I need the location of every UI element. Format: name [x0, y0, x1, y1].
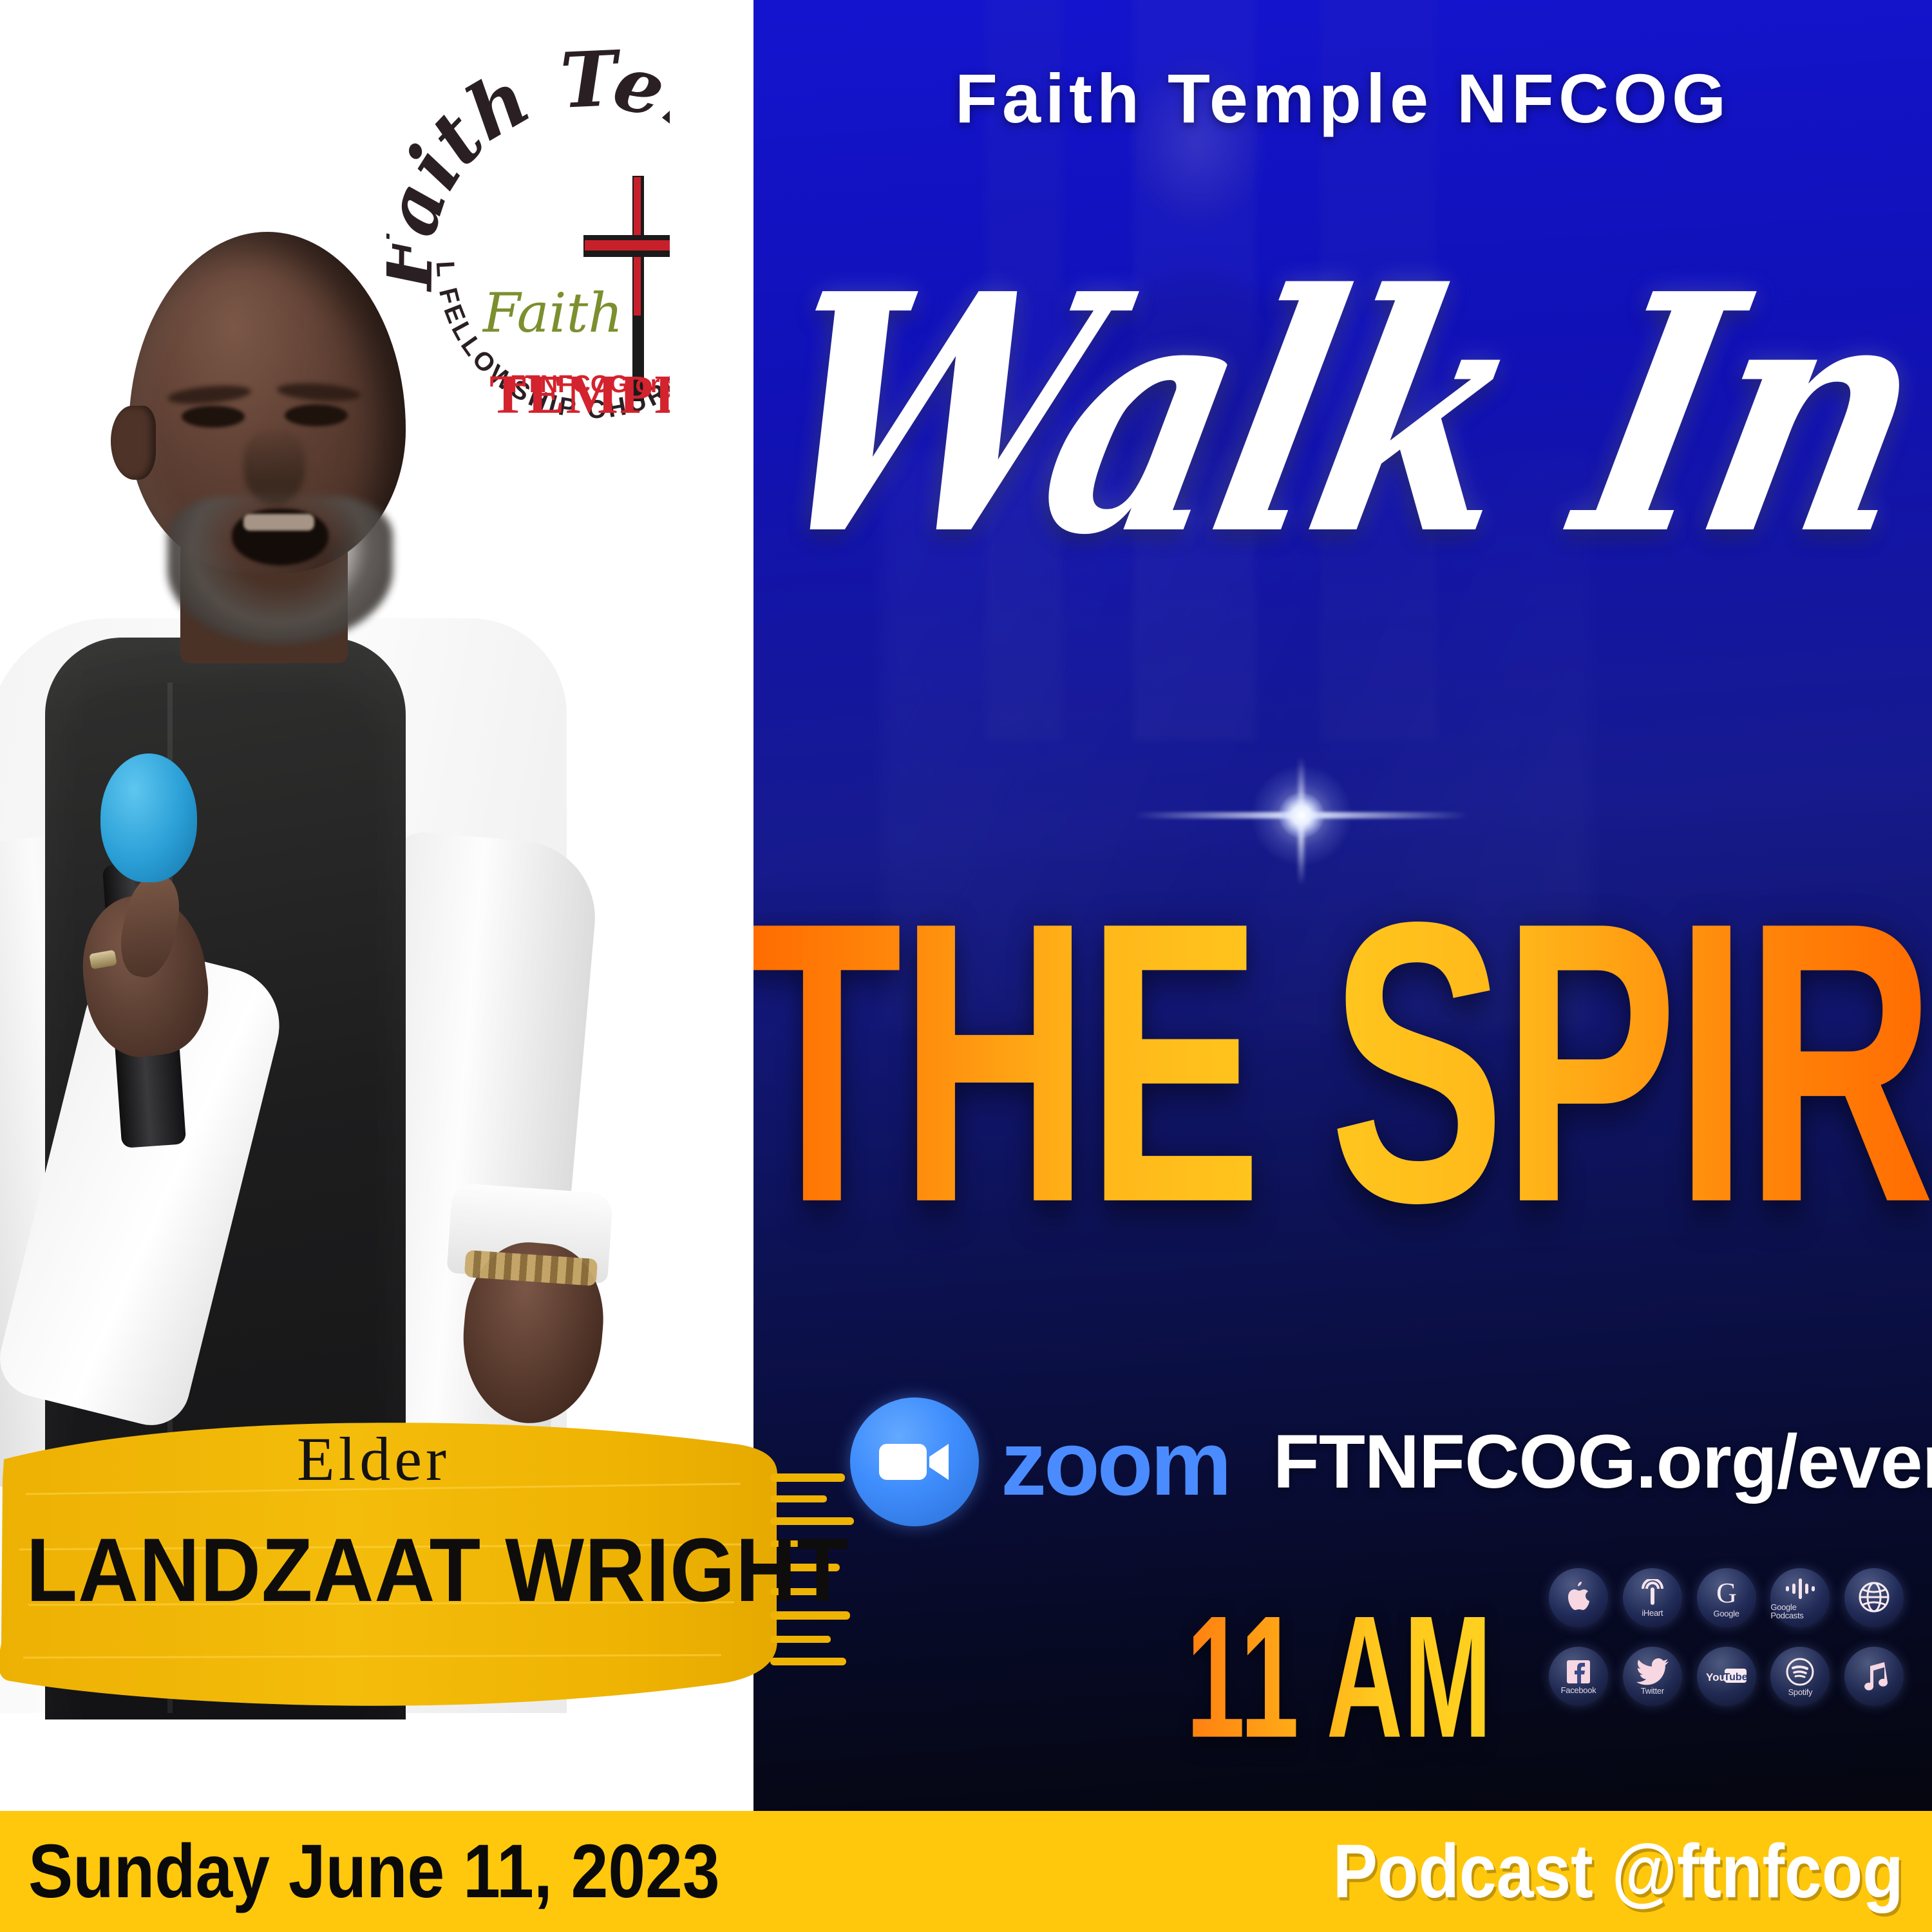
google-icon[interactable]: G Google: [1697, 1568, 1756, 1627]
speaker-title-label: Elder: [0, 1428, 747, 1490]
twitter-icon-caption: Twitter: [1641, 1687, 1664, 1695]
speaker-eye-right: [285, 404, 348, 426]
svg-text:You: You: [1706, 1671, 1726, 1683]
zoom-icon[interactable]: [850, 1397, 979, 1526]
iheartradio-icon-caption: iHeart: [1642, 1609, 1663, 1617]
youtube-icon[interactable]: You Tube: [1697, 1647, 1756, 1706]
zoom-wordmark: zoom: [1001, 1418, 1229, 1510]
microphone-head: [100, 753, 197, 882]
apple-music-icon[interactable]: [1844, 1647, 1904, 1706]
speaker-nose: [243, 429, 305, 505]
zoom-access-row[interactable]: zoom FTNFCOG.org/event: [850, 1397, 1752, 1526]
event-date: Sunday June 11, 2023: [28, 1833, 720, 1909]
event-flyer: Faith Temple NATIONAL FELLOWSHIP CHURCHE…: [0, 0, 1932, 1932]
seal-website-text: FTNFCOG.org: [510, 371, 674, 398]
google-icon-caption: Google: [1714, 1609, 1739, 1618]
seal-faith-text: Faith: [482, 281, 623, 345]
facebook-icon-caption: Facebook: [1561, 1686, 1596, 1694]
apple-icon[interactable]: [1549, 1568, 1608, 1627]
sermon-title-main: THE SPIRIT: [753, 863, 1932, 1262]
speaker-teeth: [243, 514, 314, 531]
church-name-heading: Faith Temple NFCOG: [753, 58, 1932, 138]
event-url[interactable]: FTNFCOG.org/event: [1273, 1418, 1932, 1506]
google-podcasts-icon-caption: Google Podcasts: [1770, 1603, 1830, 1620]
main-blue-panel: Faith Temple NFCOG Walk In THE SPIRIT zo…: [753, 0, 1932, 1811]
google-podcasts-icon[interactable]: Google Podcasts: [1770, 1568, 1830, 1627]
church-seal-logo: Faith Temple NATIONAL FELLOWSHIP CHURCHE…: [386, 35, 799, 448]
speaker-name: LANDZAAT WRIGHT: [26, 1525, 721, 1615]
sermon-title-script: Walk In: [753, 252, 1932, 578]
svg-text:Tube: Tube: [1723, 1672, 1747, 1683]
speaker-ear: [111, 406, 156, 480]
twitter-icon[interactable]: Twitter: [1623, 1647, 1682, 1706]
globe-icon[interactable]: [1844, 1568, 1904, 1627]
facebook-icon[interactable]: Facebook: [1549, 1647, 1608, 1706]
speaker-eye-left: [182, 406, 245, 428]
social-icon-grid[interactable]: iHeart G Google Google Podcasts: [1549, 1568, 1909, 1706]
spotify-icon[interactable]: Spotify: [1770, 1647, 1830, 1706]
svg-text:G: G: [1716, 1578, 1737, 1608]
service-time: 11 AM: [1176, 1591, 1503, 1765]
podcast-handle[interactable]: Podcast @ftnfcog: [1333, 1833, 1904, 1909]
footer-bar: Sunday June 11, 2023 Podcast @ftnfcog: [0, 1811, 1932, 1932]
iheartradio-icon[interactable]: iHeart: [1623, 1568, 1682, 1627]
spotify-icon-caption: Spotify: [1788, 1688, 1813, 1696]
